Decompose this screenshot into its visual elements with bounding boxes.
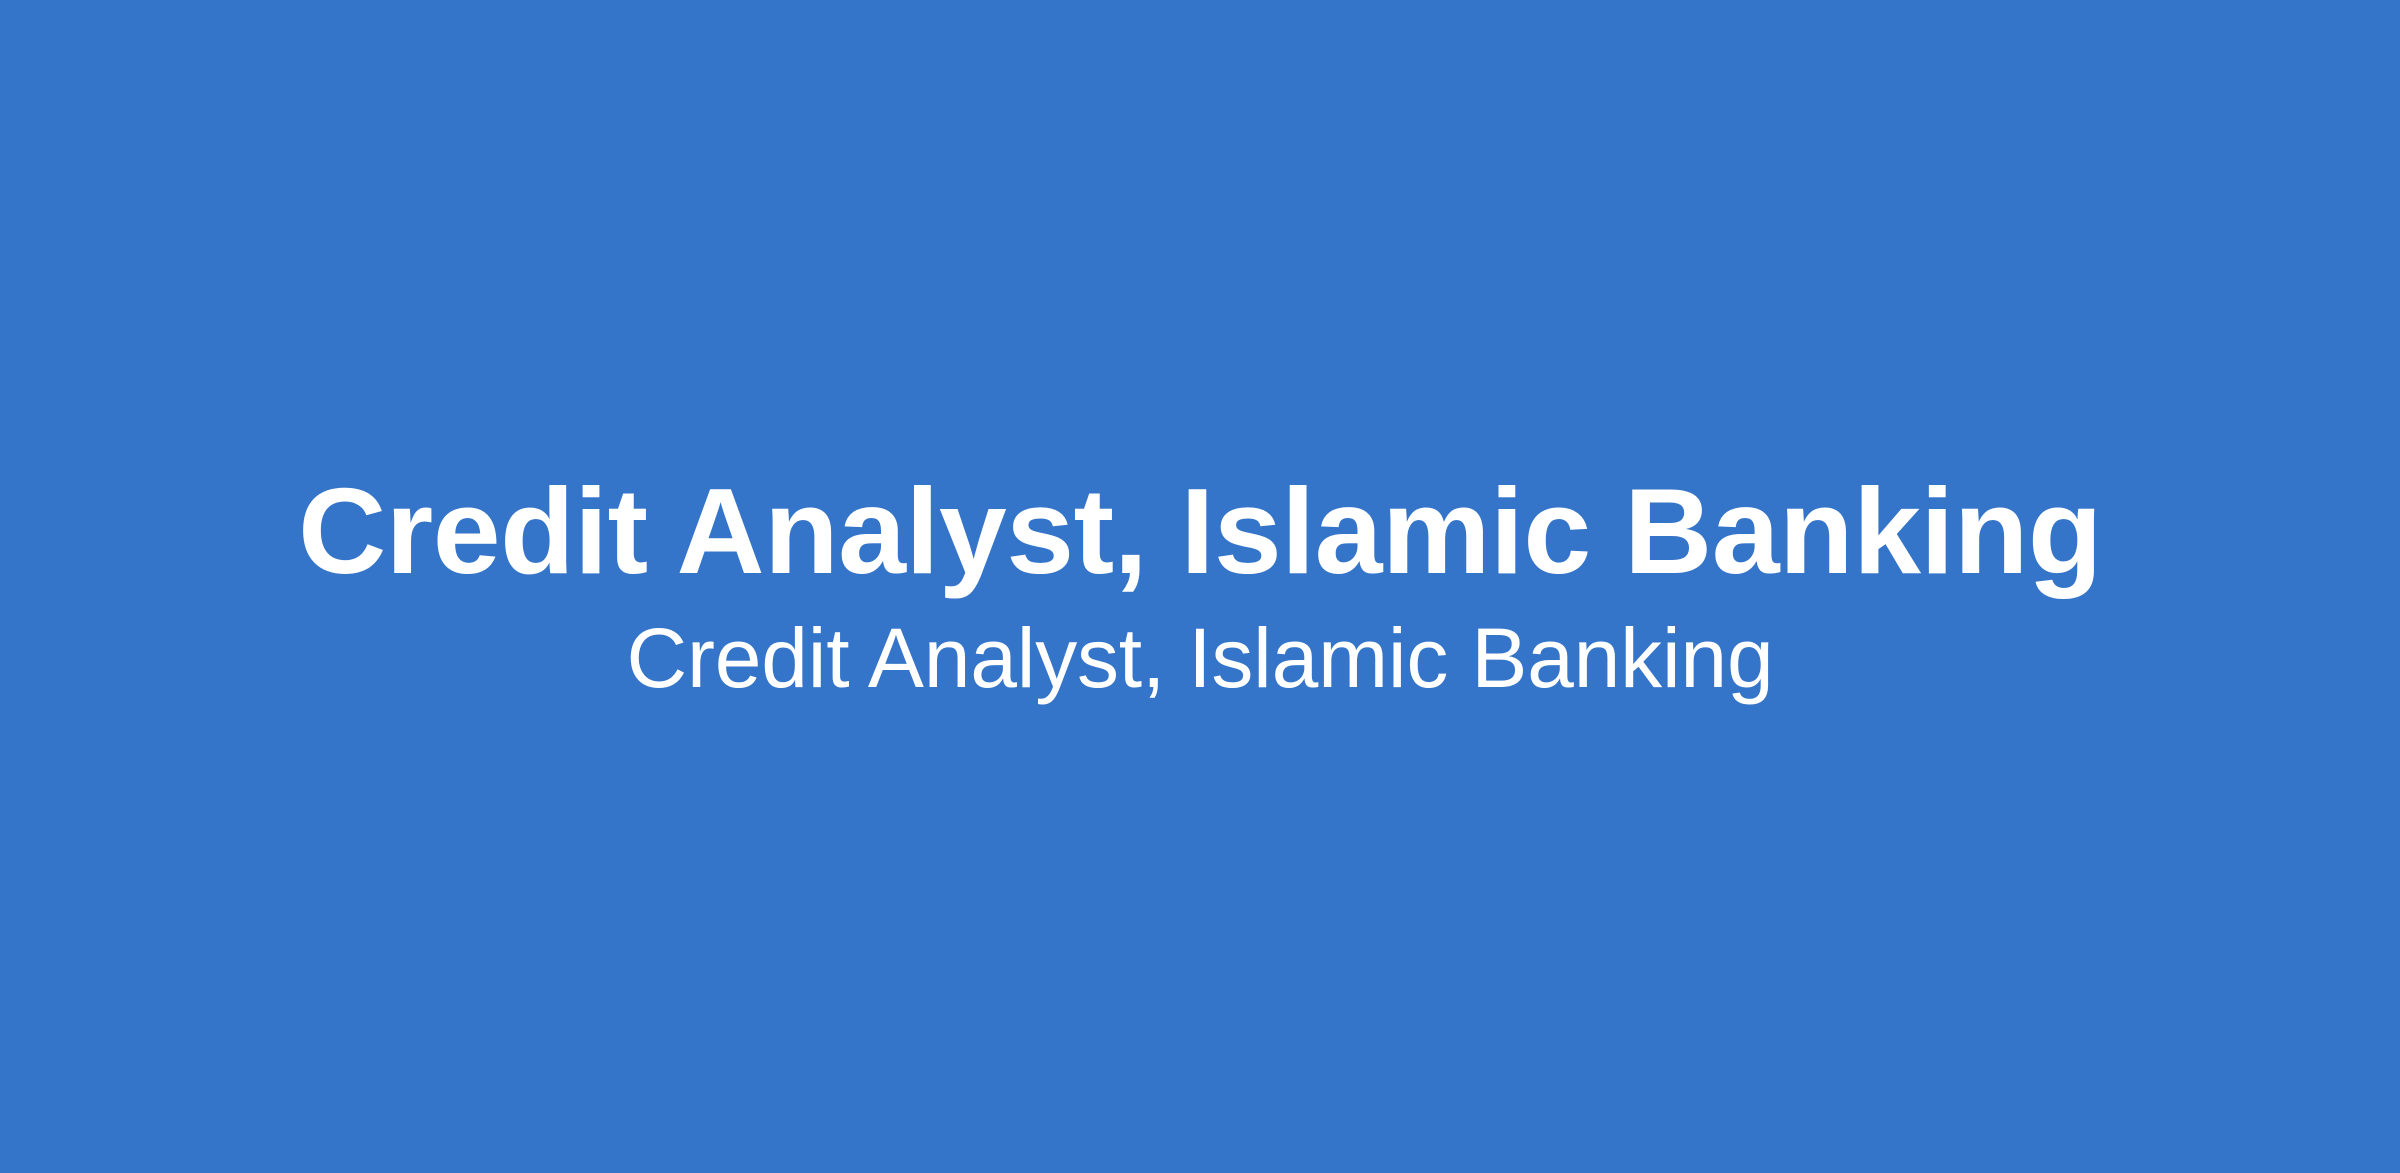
hero-text-block: Credit Analyst, Islamic Banking Credit A…: [0, 470, 2400, 700]
page-subtitle: Credit Analyst, Islamic Banking: [627, 616, 1774, 700]
hero-banner: Credit Analyst, Islamic Banking Credit A…: [0, 0, 2400, 1173]
page-title: Credit Analyst, Islamic Banking: [298, 470, 2102, 592]
